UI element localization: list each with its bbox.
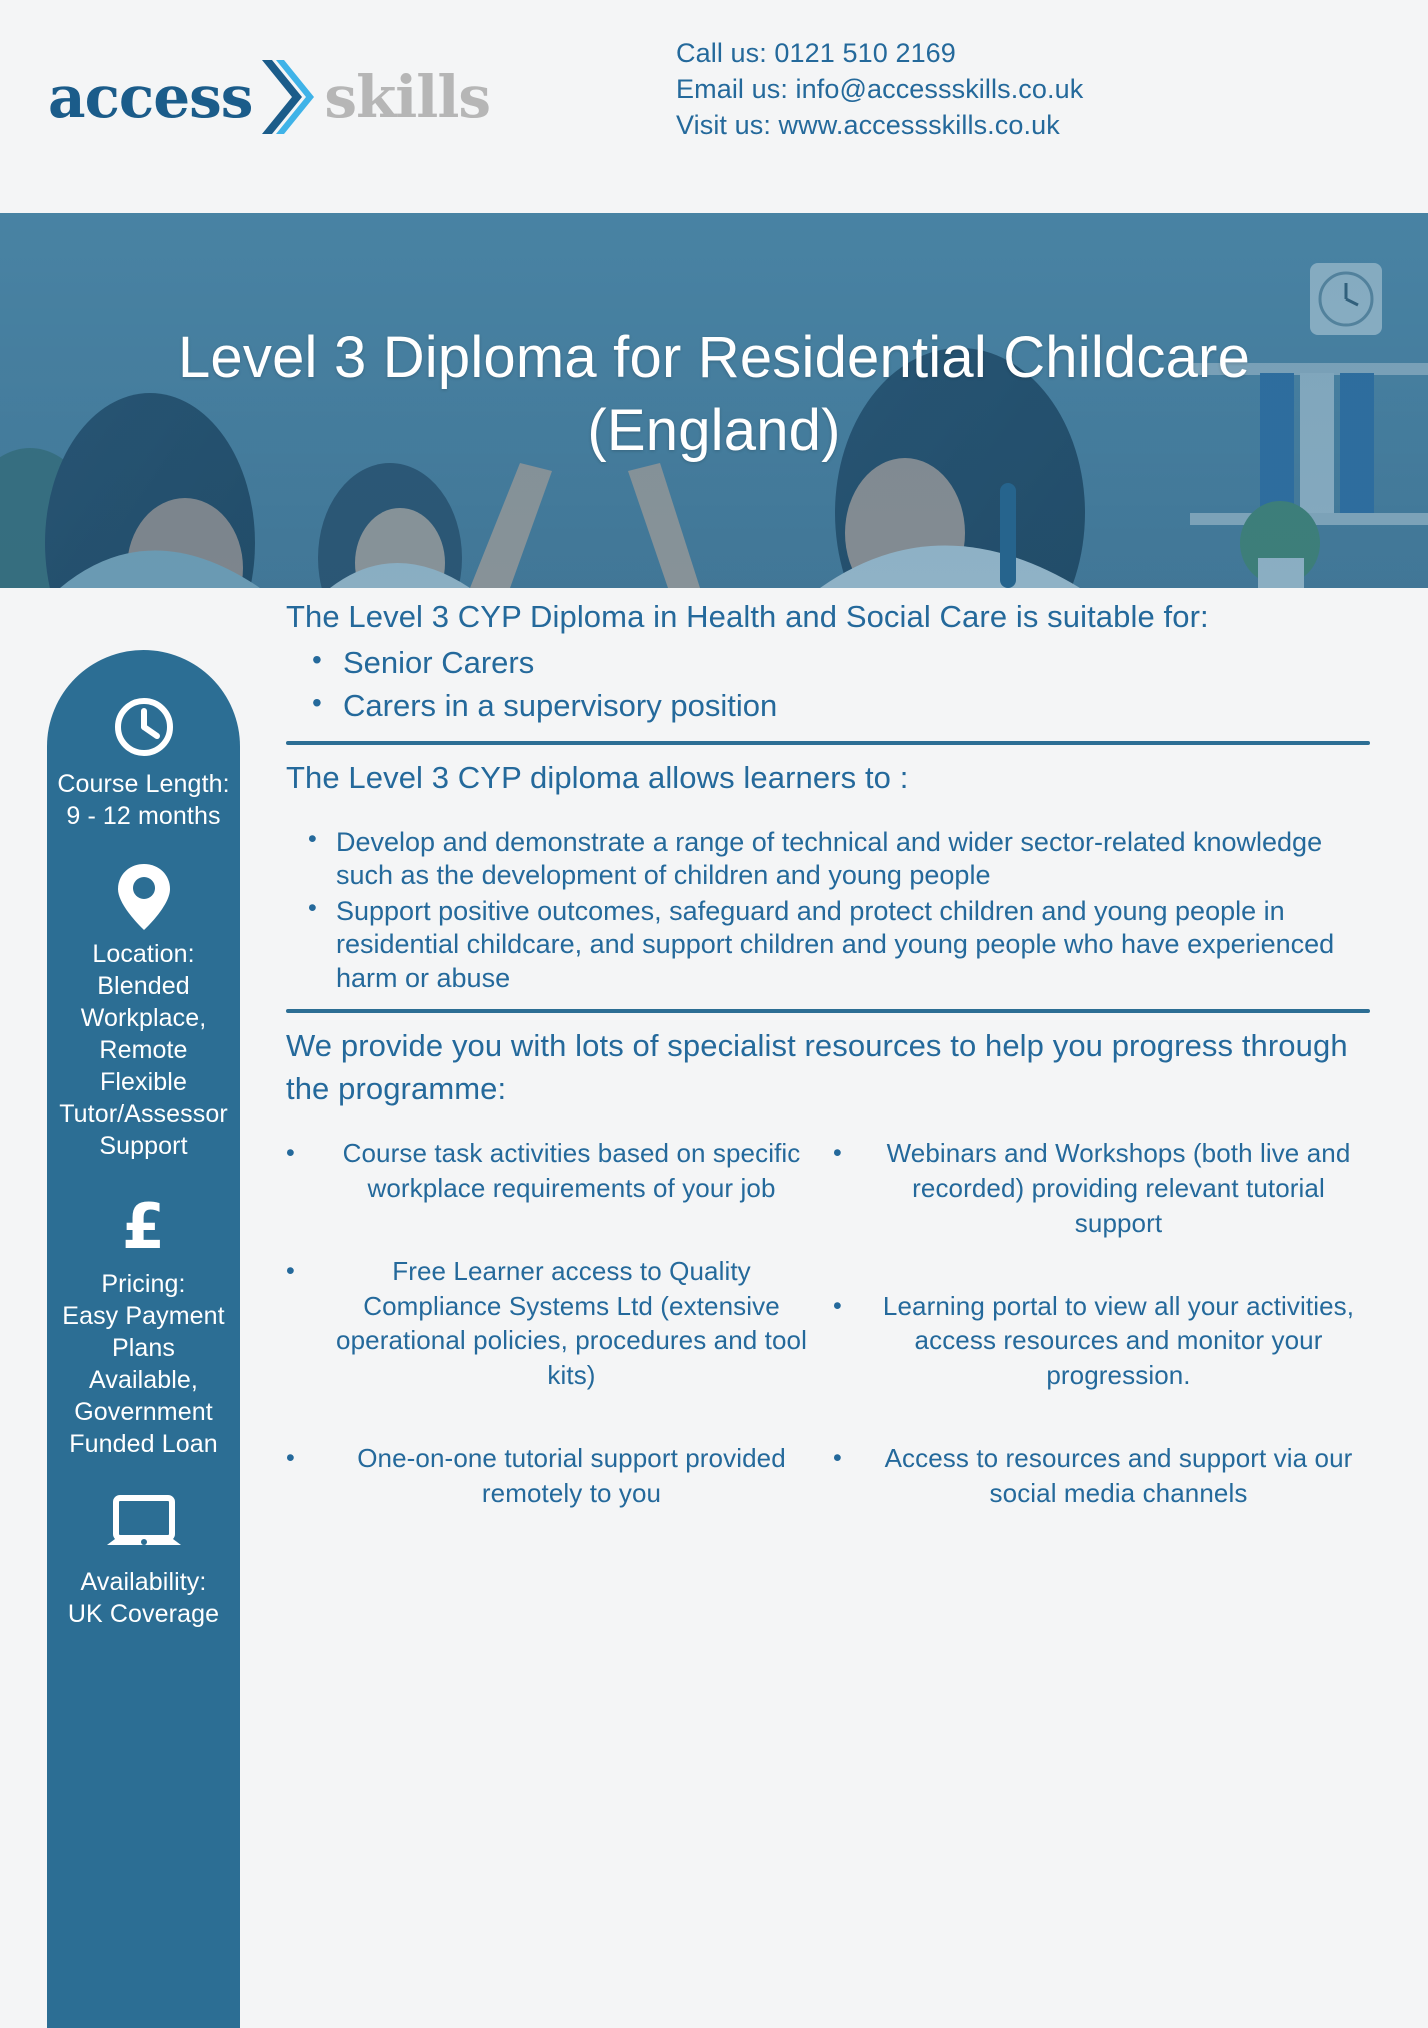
resource-text: Course task activities based on specific… (320, 1136, 823, 1206)
bullet-dot-icon: • (833, 1441, 867, 1475)
bullet-dot-icon: • (286, 1136, 320, 1170)
resource-text: Webinars and Workshops (both live and re… (867, 1136, 1370, 1240)
contact-email[interactable]: Email us: info@accessskills.co.uk (676, 72, 1083, 108)
contact-phone[interactable]: Call us: 0121 510 2169 (676, 36, 1083, 72)
list-item: • Webinars and Workshops (both live and … (833, 1136, 1370, 1240)
list-item: Carers in a supervisory position (286, 685, 1370, 727)
sidebar-value-location: Blended Workplace, Remote Flexible Tutor… (55, 970, 232, 1162)
sidebar-label-location: Location: (55, 938, 232, 970)
contact-details: Call us: 0121 510 2169 Email us: info@ac… (676, 36, 1083, 144)
brand-logo[interactable]: access skills (48, 58, 490, 136)
allows-learners-heading: The Level 3 CYP diploma allows learners … (286, 757, 1370, 799)
logo-word-skills: skills (324, 68, 490, 126)
resource-text: Free Learner access to Quality Complianc… (320, 1254, 823, 1393)
list-item: Senior Carers (286, 642, 1370, 684)
page-title: Level 3 Diploma for Residential Childcar… (0, 321, 1428, 467)
content-area: Course Length: 9 - 12 months Location: B… (0, 588, 1428, 2028)
sidebar-label-pricing: Pricing: (55, 1268, 232, 1300)
section-divider-one (286, 741, 1370, 745)
resource-text: Access to resources and support via our … (867, 1441, 1370, 1511)
sidebar-item-course-length: Course Length: 9 - 12 months (55, 696, 232, 832)
clock-icon (55, 696, 232, 758)
resource-text: One-on-one tutorial support provided rem… (320, 1441, 823, 1511)
sidebar-value-pricing: Easy Payment Plans Available, Government… (55, 1300, 232, 1460)
course-facts-sidebar: Course Length: 9 - 12 months Location: B… (47, 650, 240, 2028)
list-item: Develop and demonstrate a range of techn… (286, 826, 1370, 893)
sidebar-value-availability: UK Coverage (55, 1598, 232, 1630)
logo-word-access: access (48, 68, 252, 126)
sidebar-value-course-length: 9 - 12 months (55, 800, 232, 832)
resources-column-left: • Course task activities based on specif… (286, 1136, 823, 1555)
contact-website[interactable]: Visit us: www.accessskills.co.uk (676, 108, 1083, 144)
sidebar-label-course-length: Course Length: (55, 768, 232, 800)
hero-banner: Level 3 Diploma for Residential Childcar… (0, 213, 1428, 588)
list-item: • One-on-one tutorial support provided r… (286, 1441, 823, 1511)
list-item: • Free Learner access to Quality Complia… (286, 1254, 823, 1393)
location-pin-icon (55, 866, 232, 928)
main-column: The Level 3 CYP Diploma in Health and So… (286, 588, 1370, 2028)
bullet-dot-icon: • (833, 1289, 867, 1323)
list-item: • Learning portal to view all your activ… (833, 1289, 1370, 1393)
bullet-dot-icon: • (833, 1136, 867, 1170)
bullet-dot-icon: • (286, 1254, 320, 1288)
list-item: Support positive outcomes, safeguard and… (286, 895, 1370, 995)
sidebar-item-pricing: £ Pricing: Easy Payment Plans Available,… (55, 1196, 232, 1460)
laptop-icon (55, 1494, 232, 1556)
list-item: • Access to resources and support via ou… (833, 1441, 1370, 1511)
resources-grid: • Course task activities based on specif… (286, 1136, 1370, 1555)
suitable-for-list: Senior Carers Carers in a supervisory po… (286, 642, 1370, 727)
sidebar-label-availability: Availability: (55, 1566, 232, 1598)
bullet-dot-icon: • (286, 1441, 320, 1475)
pound-sterling-icon: £ (55, 1196, 232, 1258)
allows-learners-list: Develop and demonstrate a range of techn… (286, 826, 1370, 995)
suitable-for-lead: The Level 3 CYP Diploma in Health and So… (286, 588, 1370, 638)
chevron-right-icon (258, 58, 314, 136)
page-header: access skills Call us: 0121 510 2169 Ema… (0, 0, 1428, 213)
section-divider-two (286, 1009, 1370, 1013)
sidebar-item-availability: Availability: UK Coverage (55, 1494, 232, 1630)
resources-heading: We provide you with lots of specialist r… (286, 1025, 1370, 1110)
resource-text: Learning portal to view all your activit… (867, 1289, 1370, 1393)
resources-column-right: • Webinars and Workshops (both live and … (833, 1136, 1370, 1555)
list-item: • Course task activities based on specif… (286, 1136, 823, 1206)
sidebar-item-location: Location: Blended Workplace, Remote Flex… (55, 866, 232, 1162)
